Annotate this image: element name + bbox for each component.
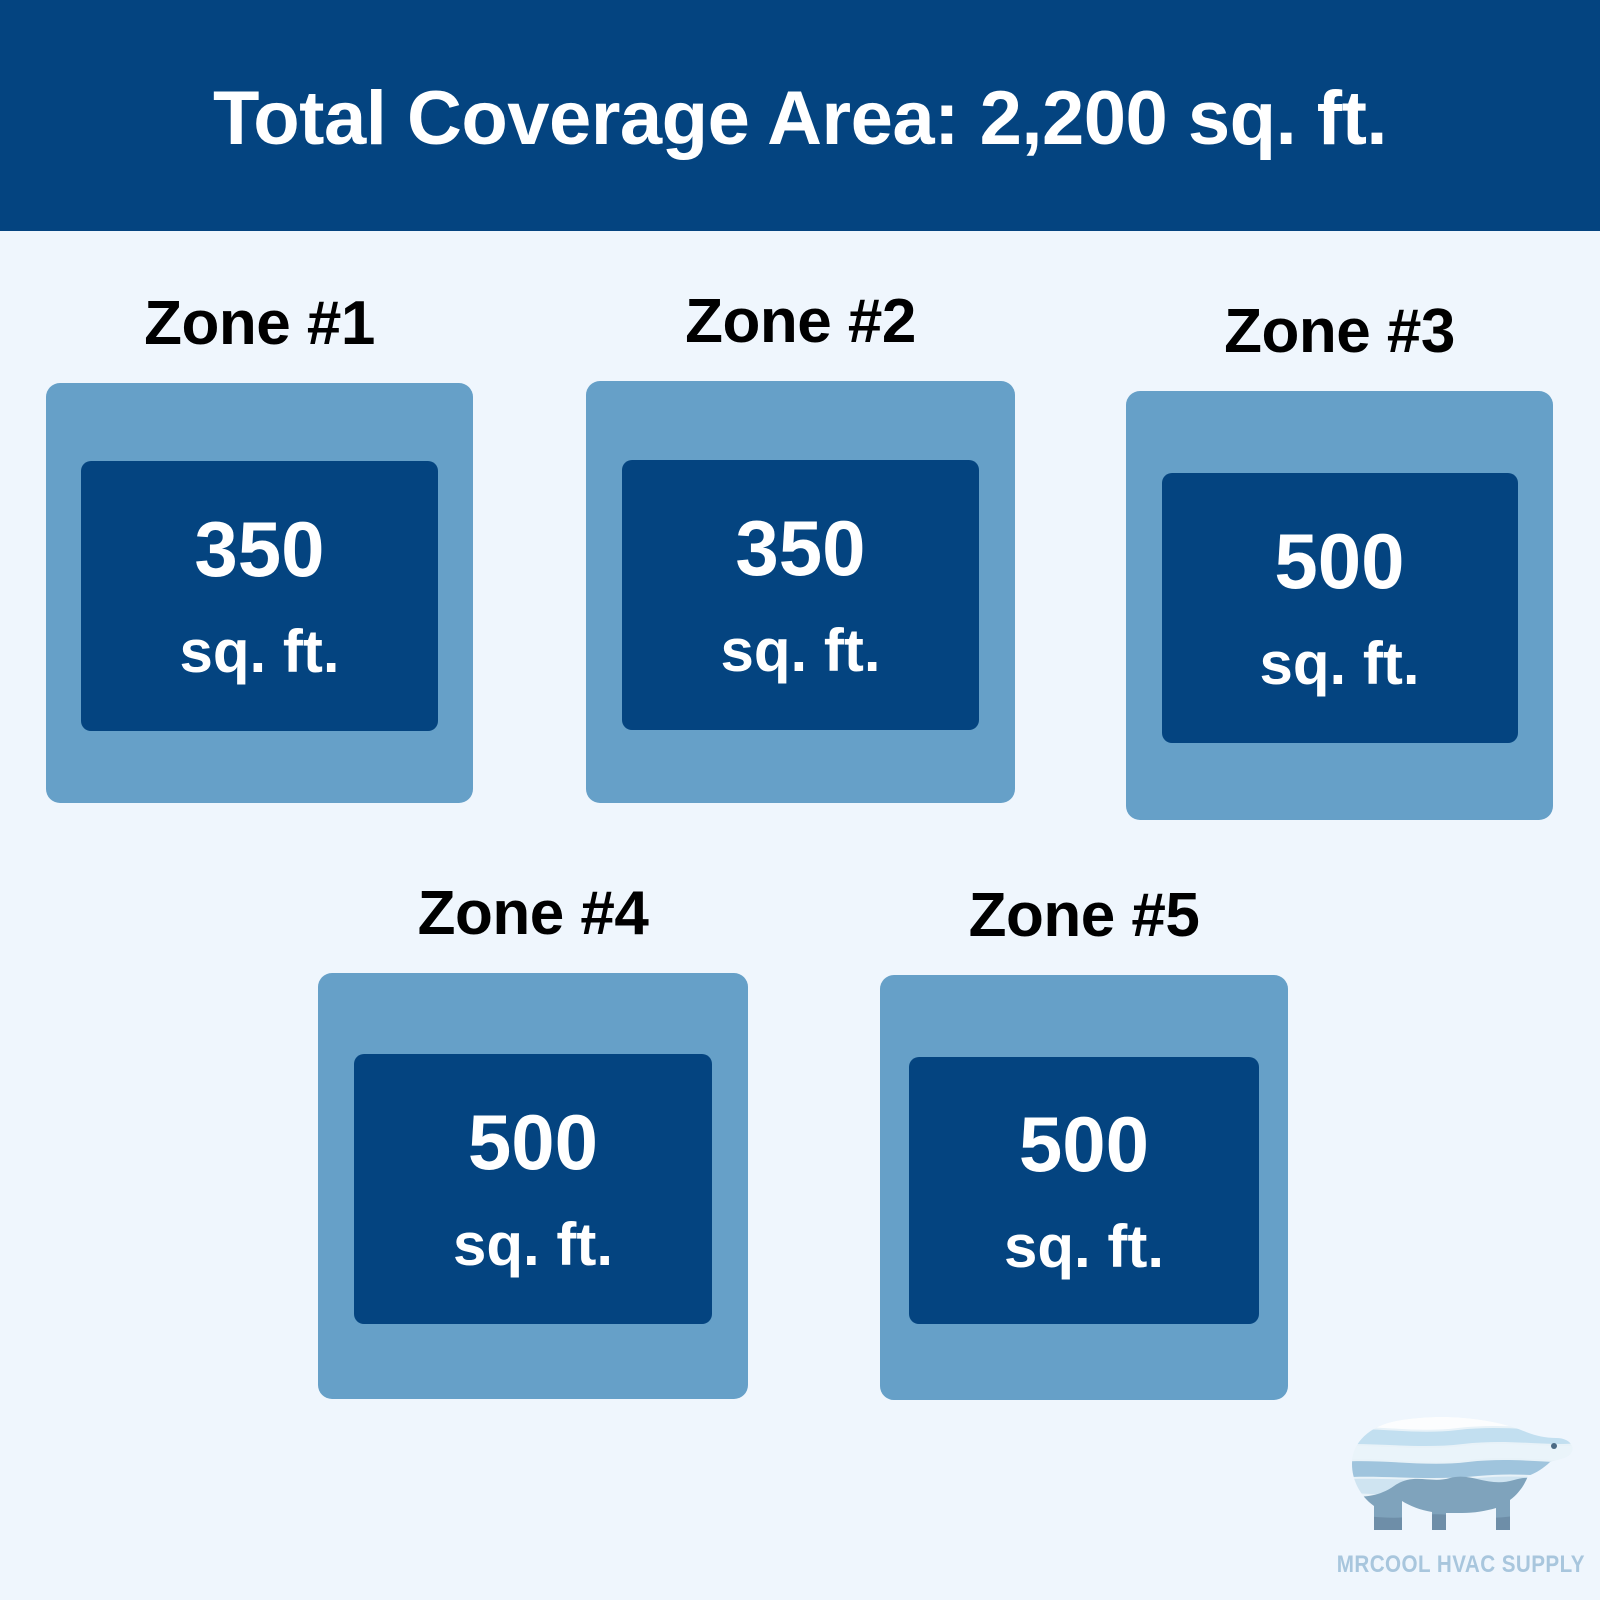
- zone-value-3: 500: [1274, 522, 1404, 600]
- zone-unit-2: sq. ft.: [721, 621, 881, 681]
- zone-inner-box-2: 350 sq. ft.: [622, 460, 979, 730]
- zone-outer-box-3: 500 sq. ft.: [1126, 391, 1553, 820]
- zone-unit-1: sq. ft.: [180, 622, 340, 682]
- zone-label-2: Zone #2: [685, 291, 916, 353]
- brand-logo: MRCOOL HVAC SUPPLY: [1318, 1388, 1586, 1588]
- zone-card-4[interactable]: Zone #4 500 sq. ft.: [318, 883, 748, 1399]
- zone-unit-5: sq. ft.: [1004, 1217, 1164, 1277]
- zone-label-3: Zone #3: [1224, 301, 1455, 363]
- zone-inner-box-1: 350 sq. ft.: [81, 461, 438, 731]
- zone-card-5[interactable]: Zone #5 500 sq. ft.: [880, 885, 1288, 1400]
- header-band: Total Coverage Area: 2,200 sq. ft.: [0, 0, 1600, 231]
- zone-card-3[interactable]: Zone #3 500 sq. ft.: [1126, 301, 1553, 820]
- zone-inner-box-4: 500 sq. ft.: [354, 1054, 712, 1324]
- zone-label-1: Zone #1: [144, 293, 375, 355]
- zone-outer-box-5: 500 sq. ft.: [880, 975, 1288, 1400]
- zone-outer-box-1: 350 sq. ft.: [46, 383, 473, 803]
- zone-unit-4: sq. ft.: [453, 1215, 613, 1275]
- zone-value-5: 500: [1019, 1105, 1149, 1183]
- zone-value-4: 500: [468, 1103, 598, 1181]
- zone-unit-3: sq. ft.: [1260, 634, 1420, 694]
- zone-outer-box-2: 350 sq. ft.: [586, 381, 1015, 803]
- zone-card-2[interactable]: Zone #2 350 sq. ft.: [586, 291, 1015, 803]
- zone-inner-box-5: 500 sq. ft.: [909, 1057, 1259, 1324]
- zone-outer-box-4: 500 sq. ft.: [318, 973, 748, 1399]
- zone-value-1: 350: [194, 510, 324, 588]
- zone-label-5: Zone #5: [969, 885, 1200, 947]
- zone-card-1[interactable]: Zone #1 350 sq. ft.: [46, 293, 473, 803]
- zone-inner-box-3: 500 sq. ft.: [1162, 473, 1518, 743]
- page-title: Total Coverage Area: 2,200 sq. ft.: [213, 81, 1387, 157]
- zone-label-4: Zone #4: [418, 883, 649, 945]
- logo-brand-text: MRCOOL HVAC SUPPLY: [1337, 1551, 1567, 1579]
- zone-value-2: 350: [735, 509, 865, 587]
- polar-bear-icon: [1318, 1388, 1586, 1553]
